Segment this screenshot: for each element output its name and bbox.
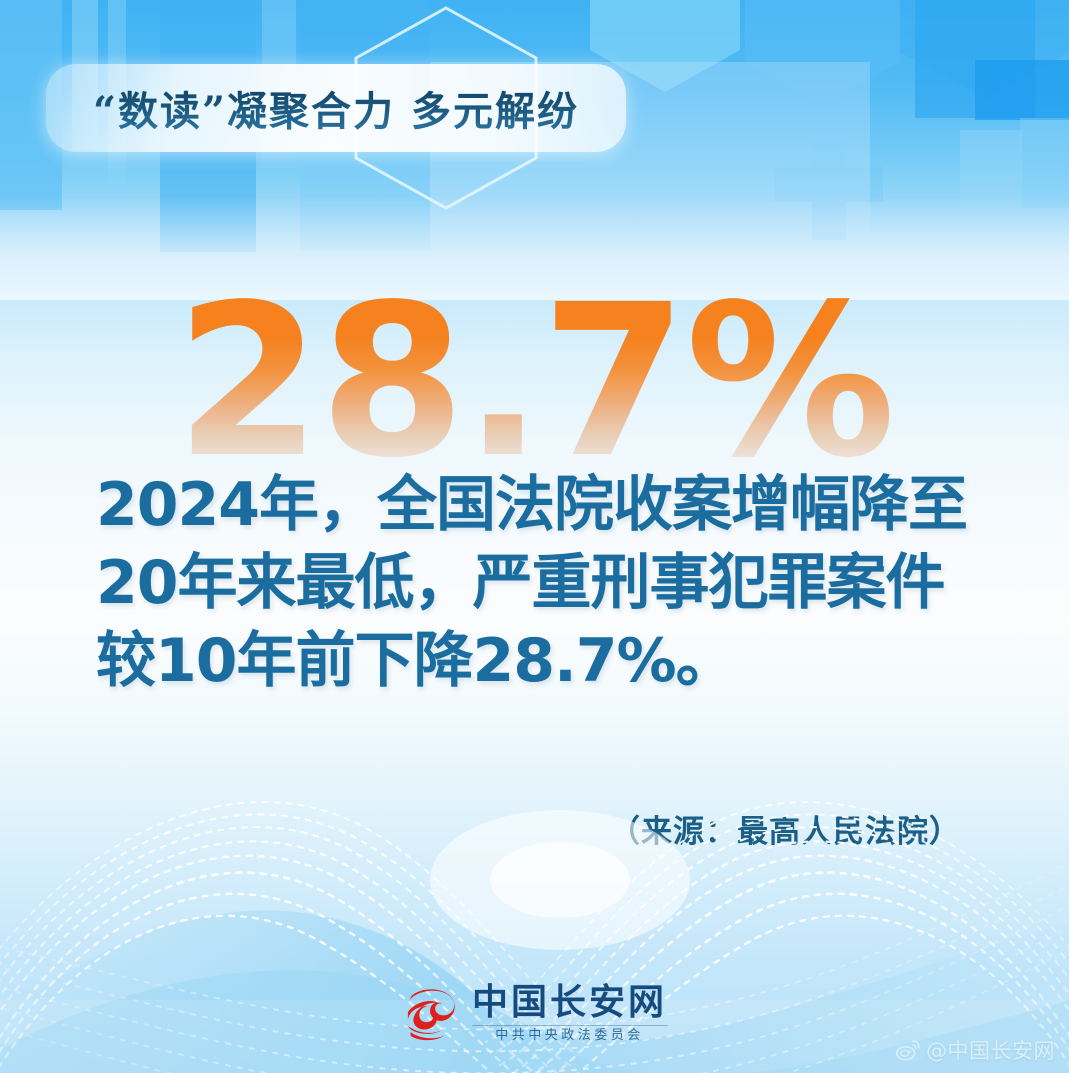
changan-swirl-icon <box>402 985 460 1043</box>
body-line-2: 20年来最低，严重刑事犯罪案件 <box>96 544 976 622</box>
infographic-poster: “数读”凝聚合力 多元解纷 28.7% 2024年，全国法院收案增幅降至 20年… <box>0 0 1069 1073</box>
body-line-1: 2024年，全国法院收案增幅降至 <box>96 466 976 544</box>
weibo-icon <box>895 1037 921 1063</box>
logo-subtitle: 中共中央政法委员会 <box>495 1028 644 1043</box>
weibo-watermark: @中国长安网 <box>895 1035 1055 1065</box>
title-pill: “数读”凝聚合力 多元解纷 <box>46 64 626 152</box>
body-line-3: 较10年前下降28.7%。 <box>96 622 976 700</box>
logo-wordmark: 中国长安网 中共中央政法委员会 <box>472 984 667 1043</box>
logo-name: 中国长安网 <box>472 984 667 1022</box>
body-paragraph: 2024年，全国法院收案增幅降至 20年来最低，严重刑事犯罪案件 较10年前下降… <box>96 466 976 700</box>
site-logo[interactable]: 中国长安网 中共中央政法委员会 <box>402 984 667 1043</box>
page-title: “数读”凝聚合力 多元解纷 <box>93 79 579 137</box>
watermark-text: @中国长安网 <box>926 1035 1055 1065</box>
logo-divider <box>472 1025 667 1026</box>
headline-statistic: 28.7% <box>0 282 1069 482</box>
